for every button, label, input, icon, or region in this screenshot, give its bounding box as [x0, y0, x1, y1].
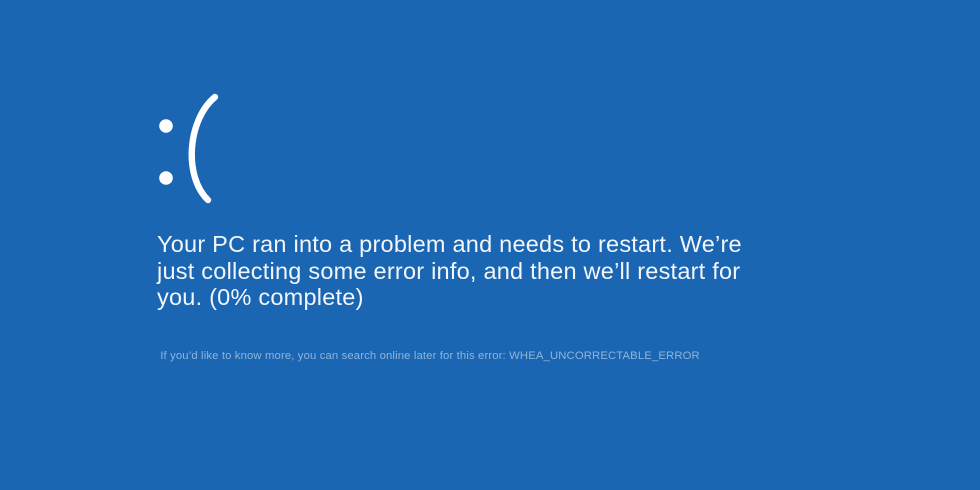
sad-face-upper-dot-icon — [159, 119, 173, 133]
error-code-detail-message: If you’d like to know more, you can sear… — [157, 349, 917, 364]
primary-error-message: Your PC ran into a problem and needs to … — [157, 231, 765, 311]
sad-face-lower-dot-icon — [159, 171, 173, 185]
sad-face-emoticon — [155, 92, 275, 207]
stop-error-screen: Your PC ran into a problem and needs to … — [0, 0, 980, 490]
sad-face-mouth-paren-icon — [192, 97, 215, 200]
sad-face-glyph — [155, 92, 275, 207]
